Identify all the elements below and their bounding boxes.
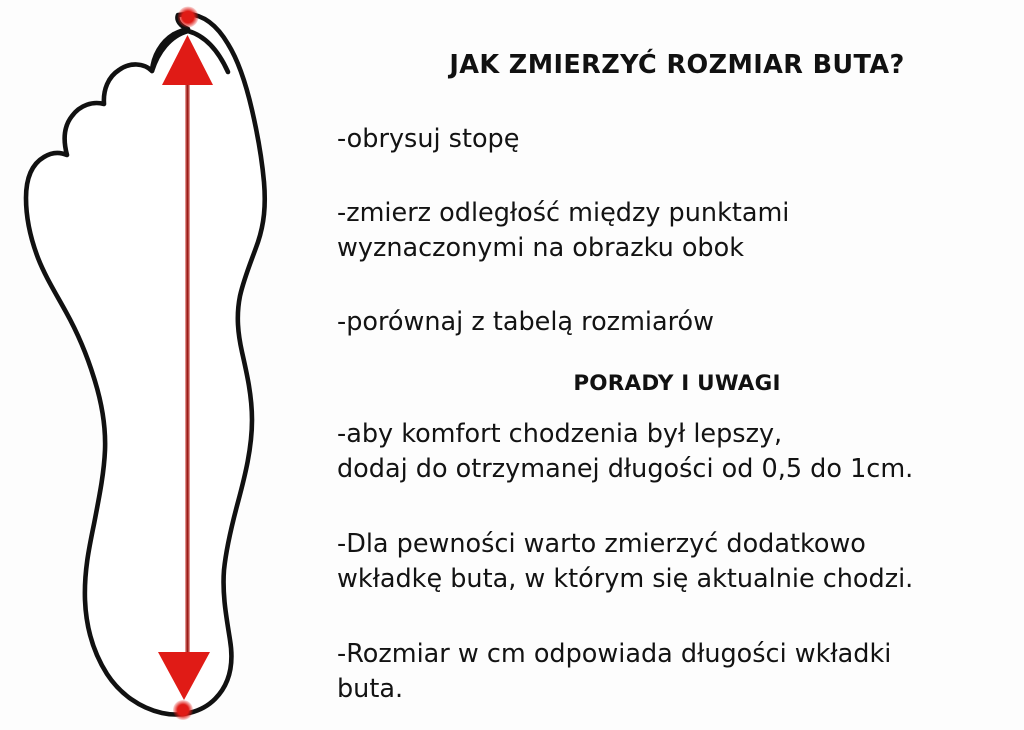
instructions-column: JAK ZMIERZYĆ ROZMIAR BUTA? -obrysuj stop… bbox=[330, 0, 1024, 730]
step-outline-line-1: -obrysuj stopę bbox=[337, 122, 519, 157]
step-measure-line-1: -zmierz odległość między punktami bbox=[337, 196, 789, 231]
tip-comfort-line-2: dodaj do otrzymanej długości od 0,5 do 1… bbox=[337, 452, 913, 487]
infographic-page: JAK ZMIERZYĆ ROZMIAR BUTA? -obrysuj stop… bbox=[0, 0, 1024, 730]
step-compare: -porównaj z tabelą rozmiarów bbox=[337, 305, 714, 340]
tip-comfort: -aby komfort chodzenia był lepszy, dodaj… bbox=[337, 417, 913, 487]
measurement-point-bottom-dot-icon bbox=[173, 700, 193, 720]
tip-insole-line-1: -Dla pewności warto zmierzyć dodatkowo bbox=[337, 527, 913, 562]
tip-size-line-2: buta. bbox=[337, 672, 891, 707]
step-measure: -zmierz odległość między punktami wyznac… bbox=[337, 196, 789, 266]
tip-size: -Rozmiar w cm odpowiada długości wkładki… bbox=[337, 637, 891, 707]
step-measure-line-2: wyznaczonymi na obrazku obok bbox=[337, 231, 789, 266]
tips-section-title: PORADY I UWAGI bbox=[330, 371, 1024, 396]
page-title: JAK ZMIERZYĆ ROZMIAR BUTA? bbox=[330, 50, 1024, 80]
tip-insole-line-2: wkładkę buta, w którym się aktualnie cho… bbox=[337, 562, 913, 597]
step-compare-line-1: -porównaj z tabelą rozmiarów bbox=[337, 305, 714, 340]
foot-outline-path bbox=[26, 14, 265, 714]
tip-size-line-1: -Rozmiar w cm odpowiada długości wkładki bbox=[337, 637, 891, 672]
tip-comfort-line-1: -aby komfort chodzenia był lepszy, bbox=[337, 417, 913, 452]
tip-insole: -Dla pewności warto zmierzyć dodatkowo w… bbox=[337, 527, 913, 597]
measurement-point-top-dot-icon bbox=[178, 7, 199, 28]
foot-illustration bbox=[0, 0, 330, 730]
foot-outline-icon bbox=[0, 0, 330, 730]
measurement-arrow-shaft bbox=[185, 55, 190, 663]
step-outline: -obrysuj stopę bbox=[337, 122, 519, 157]
